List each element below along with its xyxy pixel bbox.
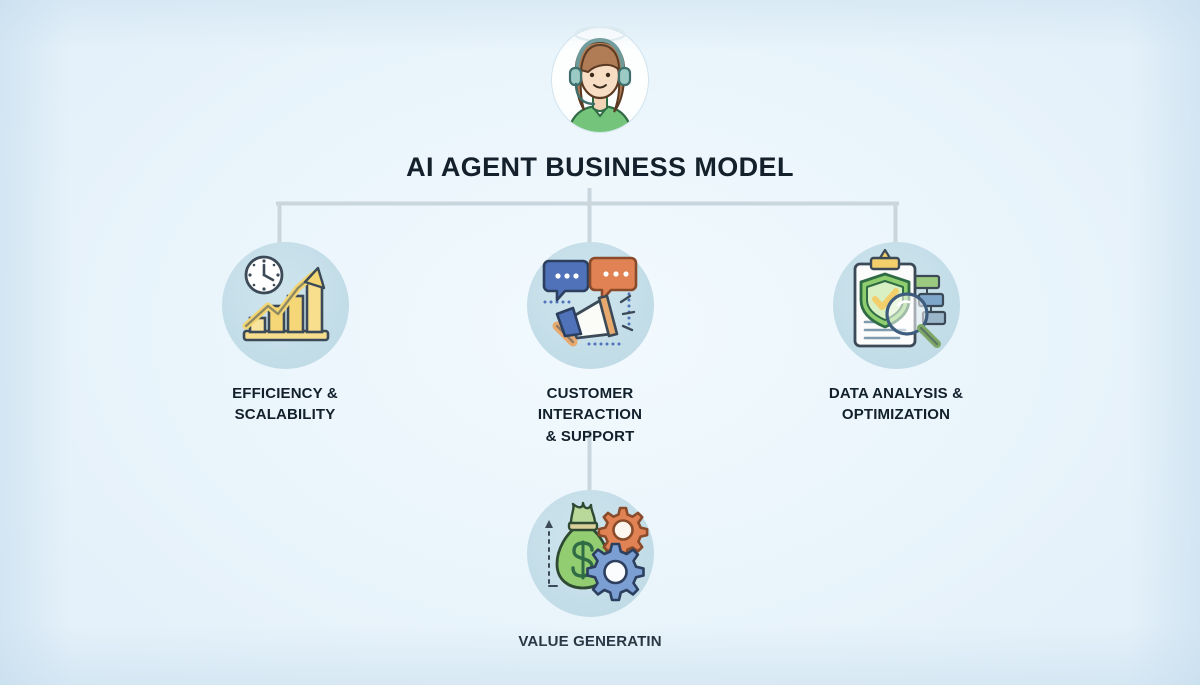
branch-node-efficiency[interactable]: EFFICIENCY & SCALABILITY <box>190 242 380 426</box>
branch-label-data: DATA ANALYSIS & OPTIMIZATION <box>801 383 991 426</box>
page-title: AI AGENT BUSINESS MODEL <box>0 152 1200 183</box>
chat-megaphone-icon <box>527 242 654 369</box>
branch-label-efficiency: EFFICIENCY & SCALABILITY <box>190 383 380 426</box>
branch-label-customer: CUSTOMER INTERACTION & SUPPORT <box>495 383 685 447</box>
branch-icon-circle-efficiency <box>222 242 349 369</box>
outcome-label-value: VALUE GENERATIN <box>495 631 685 652</box>
branch-icon-circle-customer <box>527 242 654 369</box>
outcome-node-value-generation[interactable]: VALUE GENERATIN <box>495 490 685 652</box>
clipboard-shield-magnifier-icon <box>833 242 960 369</box>
growth-chart-clock-icon <box>222 242 349 369</box>
branch-icon-circle-data <box>833 242 960 369</box>
root-node-ai-agent[interactable] <box>540 18 660 138</box>
money-bag-gears-icon <box>527 490 654 617</box>
branch-node-customer[interactable]: CUSTOMER INTERACTION & SUPPORT <box>495 242 685 447</box>
support-agent-avatar-icon <box>540 18 660 138</box>
diagram-canvas: AI AGENT BUSINESS MODEL <box>0 0 1200 685</box>
branch-node-data[interactable]: DATA ANALYSIS & OPTIMIZATION <box>801 242 991 426</box>
outcome-icon-circle-value <box>527 490 654 617</box>
